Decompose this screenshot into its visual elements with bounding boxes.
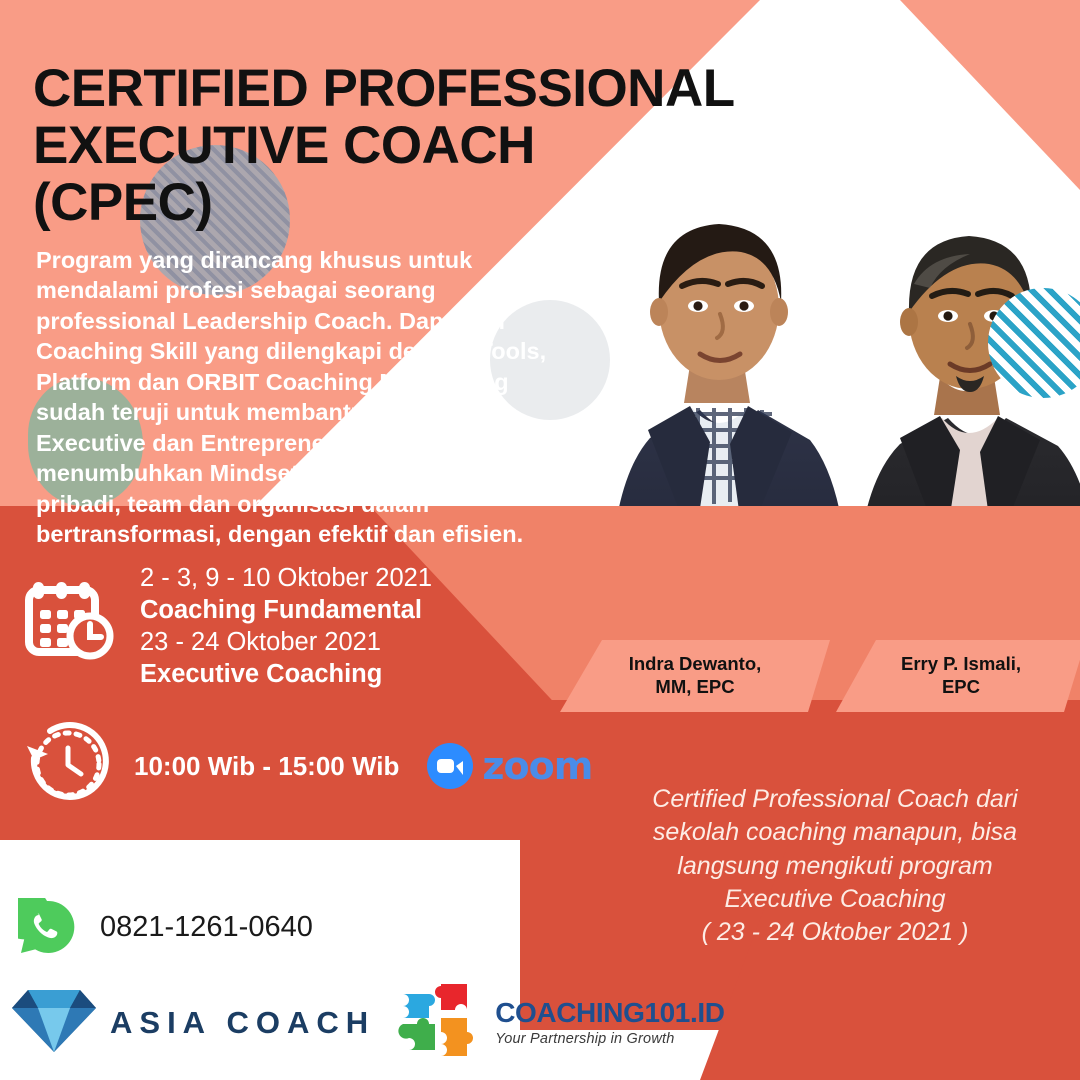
zoom-logo: zoom [427, 743, 592, 789]
zoom-wordmark: zoom [482, 744, 592, 788]
asia-coach-label: ASIA COACH [110, 1005, 375, 1041]
coaching101-logo: COACHING101.ID Your Partnership in Growt… [397, 980, 724, 1065]
asia-coach-logo: ASIA COACH [8, 984, 375, 1061]
clock-history-icon [18, 718, 114, 814]
contact-block[interactable]: 0821-1261-0640 [18, 898, 313, 956]
schedule-program-1: Coaching Fundamental [140, 594, 432, 626]
coaching101-tagline: Your Partnership in Growth [495, 1032, 724, 1047]
time-block: 10:00 Wib - 15:00 Wib zoom [18, 718, 592, 814]
poster-canvas: CERTIFIED PROFESSIONAL EXECUTIVE COACH (… [0, 0, 1080, 1080]
whatsapp-icon[interactable] [18, 898, 76, 956]
schedule-dates-1: 2 - 3, 9 - 10 Oktober 2021 [140, 562, 432, 594]
footer-logos: ASIA COACH COACHING101.ID Your Partnersh… [8, 980, 725, 1065]
coaching101-label: COACHING101.ID [495, 999, 724, 1027]
puzzle-icon [397, 980, 485, 1065]
program-description: Program yang dirancang khusus untuk mend… [36, 245, 566, 550]
schedule-block: 2 - 3, 9 - 10 Oktober 2021 Coaching Fund… [22, 562, 432, 691]
schedule-program-2: Executive Coaching [140, 658, 432, 690]
calendar-clock-icon [22, 568, 118, 664]
eligibility-note: Certified Professional Coach dari sekola… [600, 783, 1070, 949]
contact-phone[interactable]: 0821-1261-0640 [100, 911, 313, 944]
speaker-banner-2: Erry P. Ismali, EPC [836, 640, 1080, 712]
schedule-dates-2: 23 - 24 Oktober 2021 [140, 626, 432, 658]
speaker-banners: Indra Dewanto, MM, EPC Erry P. Ismali, E… [540, 640, 1080, 712]
time-range: 10:00 Wib - 15:00 Wib [134, 751, 399, 782]
video-camera-icon [427, 743, 473, 789]
diamond-icon [8, 984, 100, 1061]
speaker-banner-1: Indra Dewanto, MM, EPC [560, 640, 830, 712]
page-title: CERTIFIED PROFESSIONAL EXECUTIVE COACH (… [33, 60, 773, 232]
